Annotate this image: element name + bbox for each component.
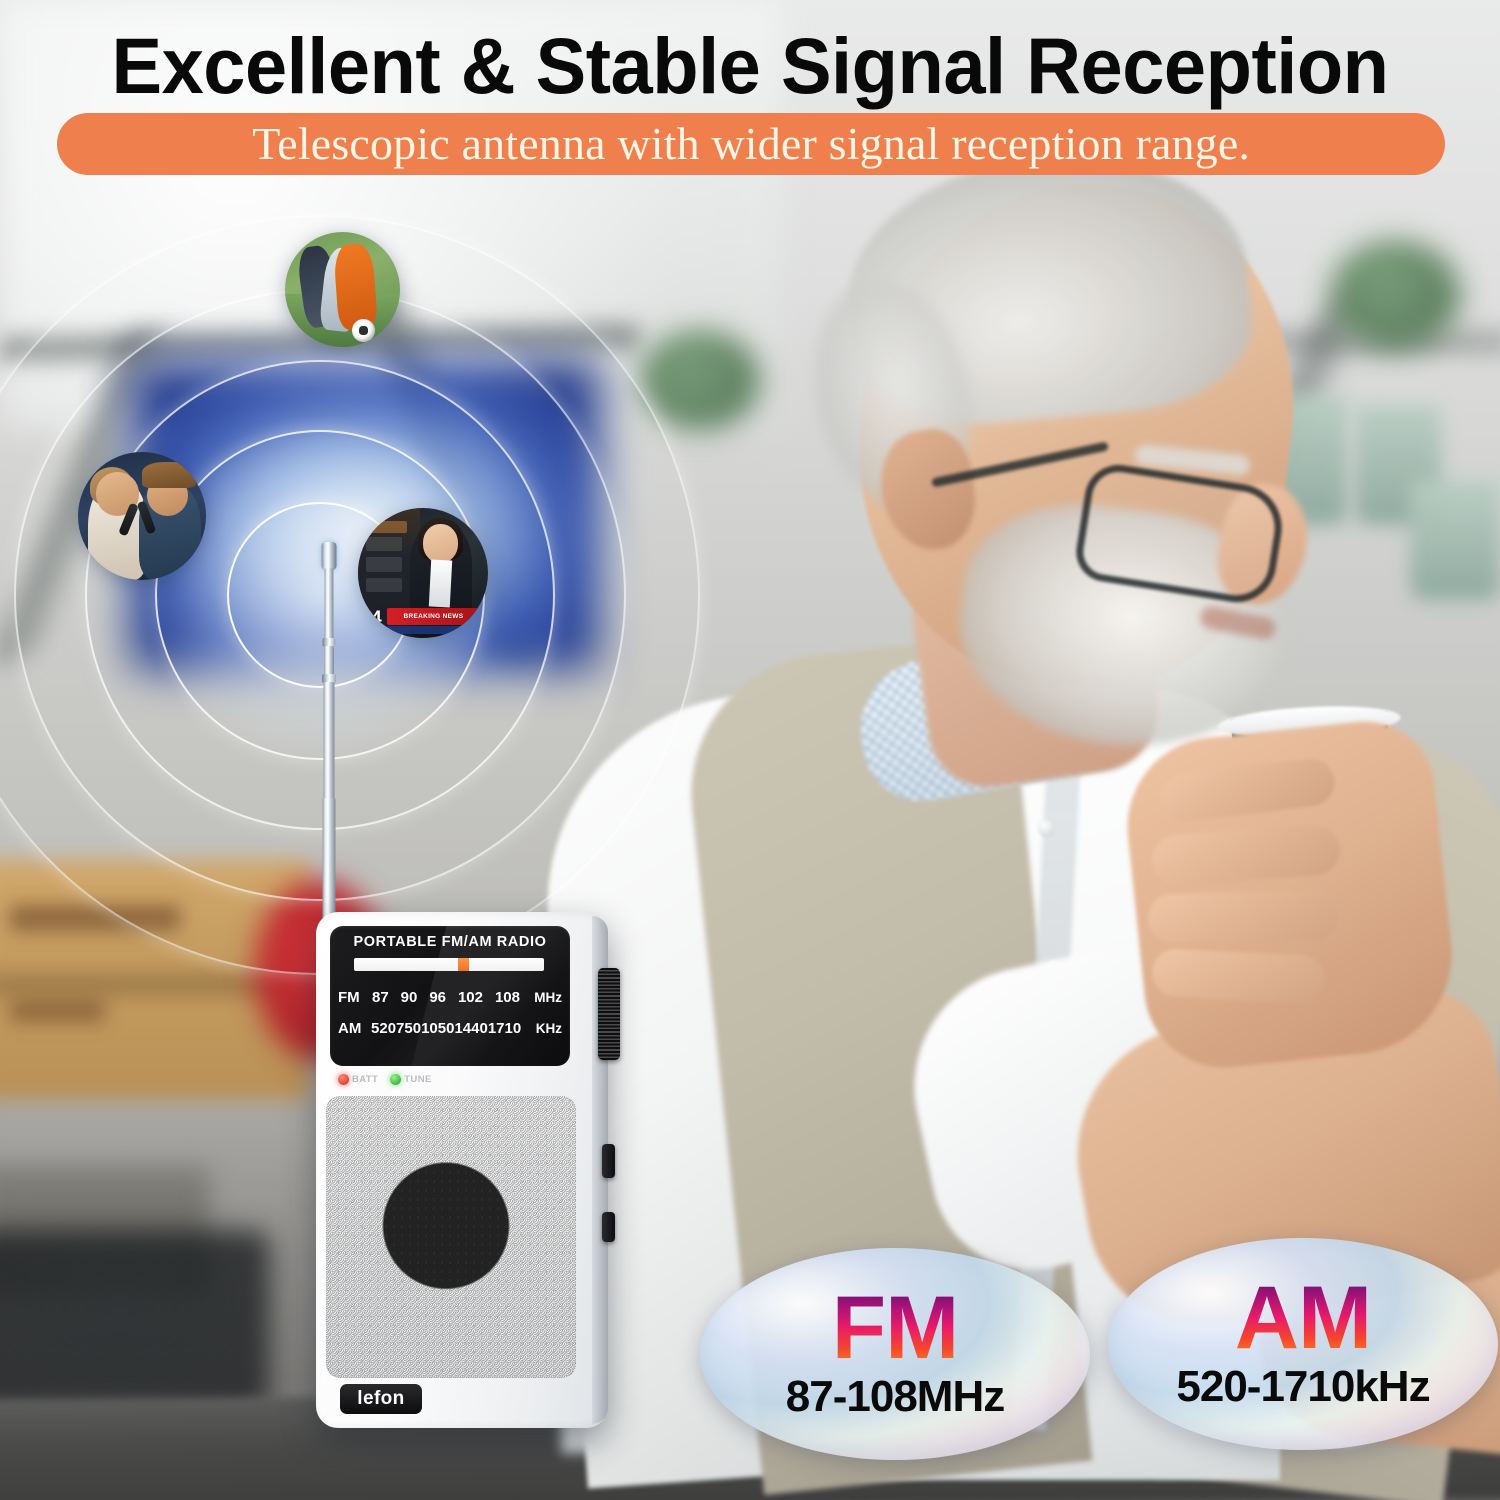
news-channel-logo: 24	[361, 608, 382, 630]
batt-indicator: BATT	[338, 1074, 378, 1085]
am-mark: 750	[396, 1020, 421, 1037]
band-switch[interactable]	[602, 1212, 615, 1242]
finger	[1151, 948, 1325, 1005]
antenna-segment	[324, 682, 335, 802]
brand-logo: lefon	[340, 1384, 422, 1414]
brand-name: lefon	[357, 1388, 404, 1410]
tune-led-icon	[390, 1074, 401, 1085]
fm-mark: 90	[401, 989, 418, 1006]
am-band-label: AM	[338, 1020, 371, 1037]
finger	[1148, 890, 1339, 943]
portable-radio-product[interactable]: PORTABLE FM/AM RADIO FM 87 90 96 102 108…	[316, 912, 608, 1428]
soccer-player	[333, 242, 378, 330]
fm-feature-badge: FM 87-108MHz	[700, 1248, 1090, 1460]
fm-band-label: FM	[338, 989, 372, 1006]
content-bubble-sports	[285, 232, 400, 347]
news-anchor-shirt	[428, 559, 451, 607]
tuning-knob[interactable]	[598, 968, 620, 1060]
antenna-segment	[324, 646, 334, 676]
news-screen-tile	[366, 578, 402, 592]
background-dark-object	[0, 1230, 270, 1410]
page-title: Excellent & Stable Signal Reception	[30, 26, 1470, 105]
antenna-tip	[322, 542, 337, 570]
indicator-leds: BATT TUNE	[338, 1074, 432, 1085]
tune-label: TUNE	[404, 1074, 431, 1085]
product-marketing-image: BREAKING NEWS 24 PORTABLE FM/AM RADIO FM…	[0, 0, 1500, 1500]
am-feature-badge: AM 520-1710kHz	[1108, 1238, 1498, 1450]
volume-control[interactable]	[602, 1144, 615, 1178]
am-badge-range: 520-1710kHz	[1176, 1362, 1429, 1412]
hat-icon	[142, 462, 196, 488]
speaker-driver-holes	[326, 1096, 576, 1378]
news-screen-tile	[366, 537, 402, 551]
batt-label: BATT	[352, 1074, 378, 1085]
news-screen-tile	[368, 521, 407, 533]
speaker-grille	[326, 1096, 576, 1378]
antenna-segment	[325, 568, 334, 640]
news-anchor-face	[423, 524, 458, 563]
subtitle-text: Telescopic antenna with wider signal rec…	[252, 118, 1250, 170]
am-badge-band: AM	[1235, 1276, 1371, 1360]
fm-badge-range: 87-108MHz	[786, 1372, 1004, 1422]
news-screen-tile	[366, 557, 402, 571]
soccer-ball-icon	[352, 319, 375, 342]
telescopic-antenna[interactable]	[318, 542, 340, 937]
radio-dial-panel: PORTABLE FM/AM RADIO FM 87 90 96 102 108…	[330, 926, 570, 1066]
content-bubble-news: BREAKING NEWS 24	[358, 508, 488, 638]
am-mark: 520	[371, 1020, 396, 1037]
breaking-news-label: BREAKING NEWS	[387, 608, 481, 625]
news-ticker	[381, 626, 464, 634]
subtitle-banner: Telescopic antenna with wider signal rec…	[57, 113, 1445, 175]
fm-mark: 87	[372, 989, 389, 1006]
tune-indicator: TUNE	[390, 1074, 431, 1085]
batt-led-icon	[338, 1074, 349, 1085]
content-bubble-music	[78, 452, 206, 580]
shirt-button	[1038, 820, 1055, 837]
breaking-news-banner: BREAKING NEWS	[387, 608, 481, 625]
fm-badge-band: FM	[832, 1286, 959, 1370]
